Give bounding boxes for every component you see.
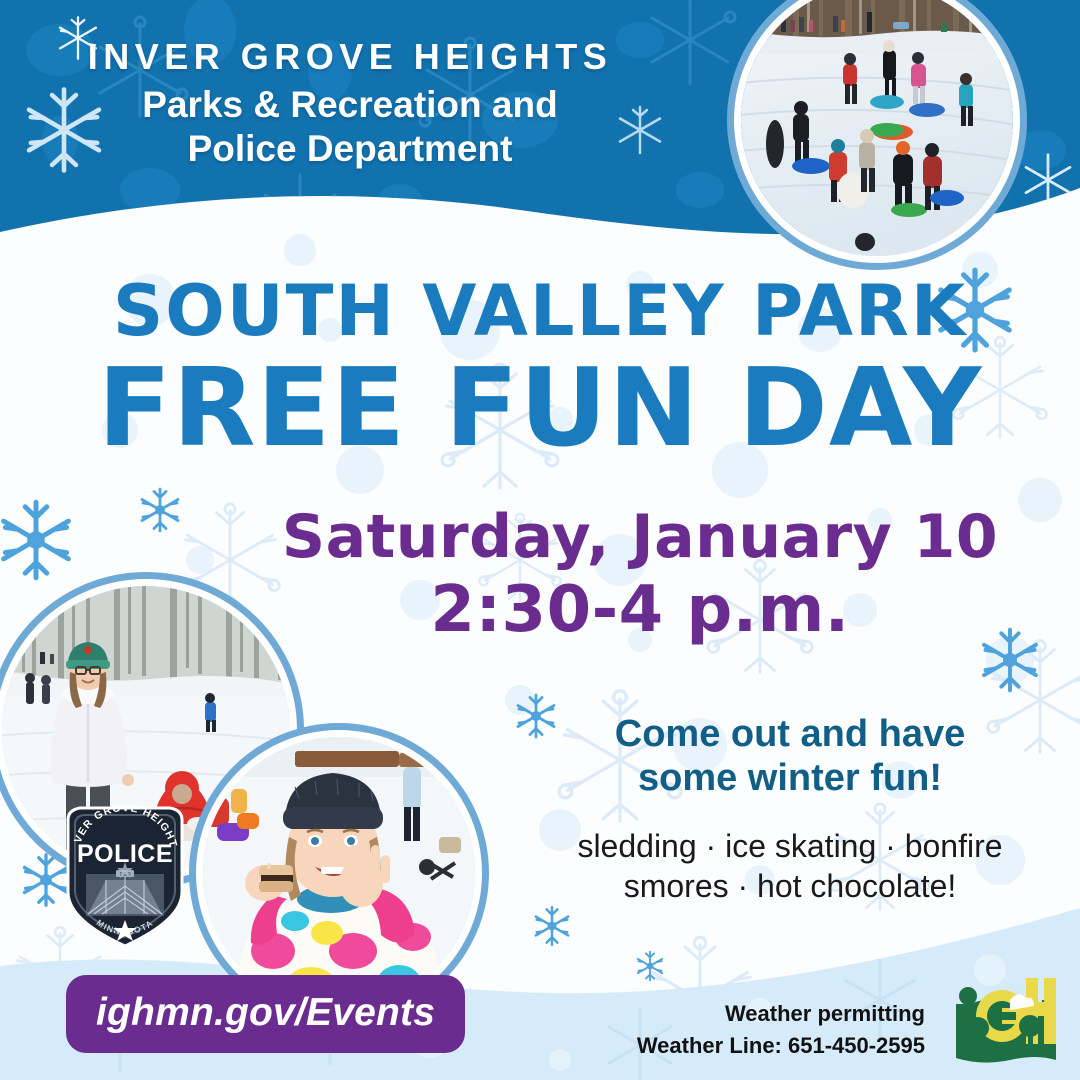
org-dept-line-2: Police Department bbox=[0, 127, 700, 171]
weather-line-phone: Weather Line: 651-450-2595 bbox=[637, 1030, 925, 1062]
copy-headline-line-2: some winter fun! bbox=[520, 756, 1060, 800]
event-name-headline: FREE FUN DAY bbox=[0, 354, 1080, 464]
poster-canvas: INVER GROVE HEIGHTS Parks & Recreation a… bbox=[0, 0, 1080, 1080]
body-copy-block: Come out and have some winter fun! sledd… bbox=[520, 712, 1060, 907]
events-url-button[interactable]: ighmn.gov/Events bbox=[66, 975, 465, 1053]
copy-headline-line-1: Come out and have bbox=[520, 712, 1060, 756]
event-date-block: Saturday, January 10 2:30-4 p.m. bbox=[200, 505, 1080, 645]
activities-line-2: smores · hot chocolate! bbox=[520, 866, 1060, 906]
park-name-headline: SOUTH VALLEY PARK bbox=[0, 276, 1080, 346]
weather-note: Weather permitting Weather Line: 651-450… bbox=[637, 998, 925, 1062]
header-org-text: INVER GROVE HEIGHTS Parks & Recreation a… bbox=[0, 36, 700, 171]
event-time: 2:30-4 p.m. bbox=[200, 576, 1080, 645]
headline-block: SOUTH VALLEY PARK FREE FUN DAY bbox=[0, 276, 1080, 464]
org-name-line: INVER GROVE HEIGHTS bbox=[0, 36, 700, 78]
police-badge-logo: INVER GROVE HEIGHTS POLICE 1909 bbox=[58, 800, 192, 957]
activities-line-1: sledding · ice skating · bonfire bbox=[520, 826, 1060, 866]
girl-eating-smore-photo bbox=[203, 737, 475, 1009]
org-dept-line-1: Parks & Recreation and bbox=[0, 83, 700, 127]
weather-permitting-line: Weather permitting bbox=[637, 998, 925, 1030]
igh-city-logo bbox=[950, 970, 1062, 1071]
event-date: Saturday, January 10 bbox=[200, 505, 1080, 570]
